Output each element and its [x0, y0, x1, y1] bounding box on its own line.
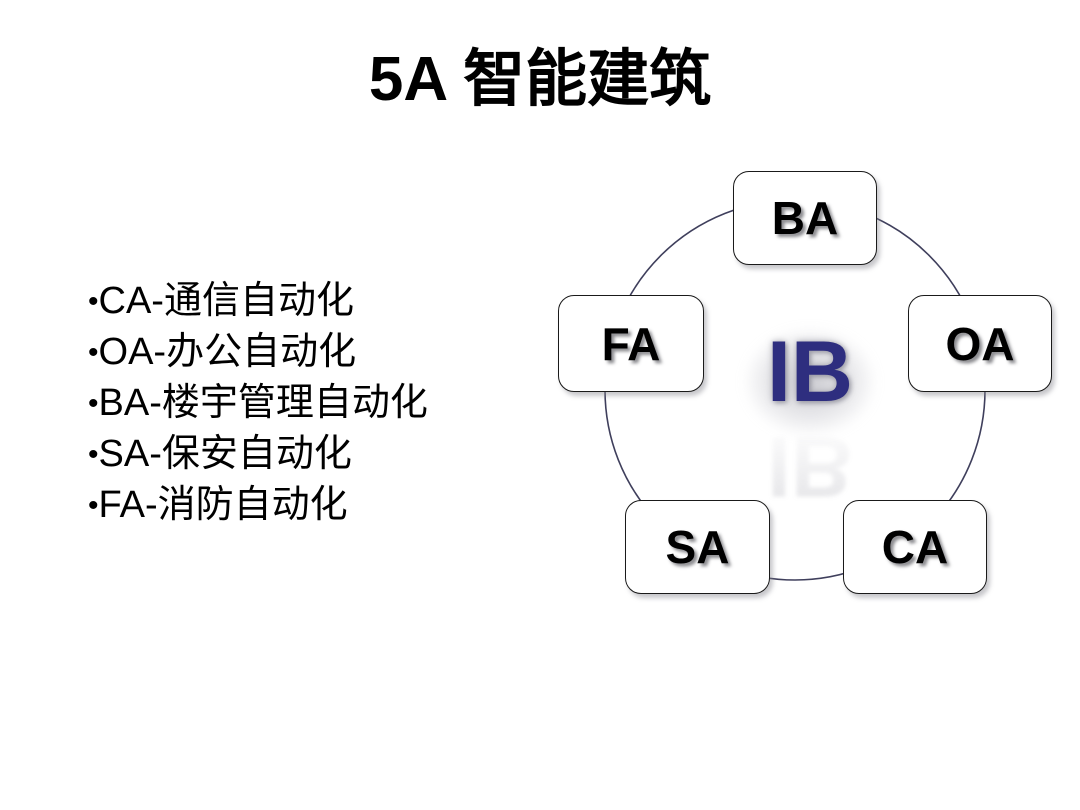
list-item-label: 楼宇管理自动化: [162, 382, 428, 424]
list-item-label: 消防自动化: [158, 484, 348, 526]
node-ba[interactable]: BA: [733, 171, 877, 265]
node-fa-label: FA: [602, 321, 661, 367]
bullet-marker-icon: •: [88, 438, 99, 471]
list-item-label: 保安自动化: [162, 433, 352, 475]
list-item-label: 办公自动化: [166, 331, 356, 373]
node-ca-label: CA: [882, 524, 948, 570]
cycle-diagram: IB IB BA OA CA SA FA: [540, 150, 1080, 620]
bullet-marker-icon: •: [88, 489, 99, 522]
list-item: •OA-办公自动化: [88, 327, 518, 378]
node-sa[interactable]: SA: [625, 500, 770, 594]
list-item-label: 通信自动化: [164, 280, 354, 322]
node-ba-label: BA: [772, 195, 838, 241]
center-wordmark: IB IB: [720, 320, 900, 510]
node-ca[interactable]: CA: [843, 500, 987, 594]
list-item-code: OA-: [99, 331, 167, 373]
list-item: •BA-楼宇管理自动化: [88, 378, 518, 429]
node-sa-label: SA: [666, 524, 730, 570]
node-oa[interactable]: OA: [908, 295, 1052, 392]
node-fa[interactable]: FA: [558, 295, 704, 392]
list-item-code: FA-: [99, 484, 158, 526]
list-item-code: CA-: [99, 280, 164, 322]
page-title: 5A 智能建筑: [0, 44, 1080, 116]
bullet-list: •CA-通信自动化 •OA-办公自动化 •BA-楼宇管理自动化 •SA-保安自动…: [88, 276, 518, 531]
bullet-marker-icon: •: [88, 336, 99, 369]
bullet-marker-icon: •: [88, 387, 99, 420]
bullet-marker-icon: •: [88, 285, 99, 318]
list-item: •CA-通信自动化: [88, 276, 518, 327]
node-oa-label: OA: [946, 321, 1015, 367]
list-item: •FA-消防自动化: [88, 480, 518, 531]
list-item: •SA-保安自动化: [88, 429, 518, 480]
list-item-code: BA-: [99, 382, 162, 424]
list-item-code: SA-: [99, 433, 162, 475]
center-wordmark-label: IB: [720, 322, 900, 422]
